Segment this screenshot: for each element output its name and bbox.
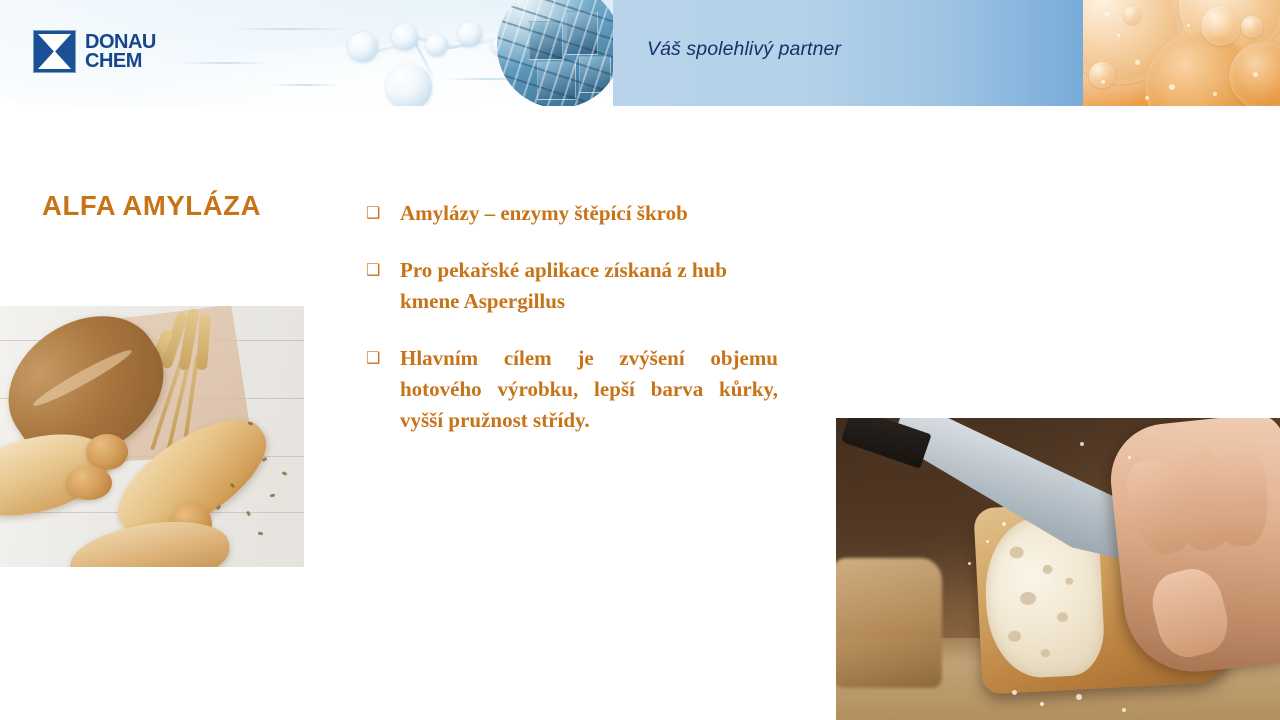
bread-assortment-photo: [0, 306, 304, 567]
bullet-item-2: ❑ Pro pekařské aplikace získaná z hub km…: [366, 255, 778, 317]
slide-header: DONAU CHEM Váš spolehlivý partner: [0, 0, 1280, 106]
bullet-item-1: ❑ Amylázy – enzymy štěpící škrob: [366, 198, 778, 229]
logo-hourglass-icon: [33, 30, 76, 73]
bullet-item-3-text: Hlavním cílem je zvýšení objemu hotového…: [400, 343, 778, 436]
slide-canvas: DONAU CHEM Váš spolehlivý partner: [0, 0, 1280, 720]
bread-roll-1: [86, 434, 128, 470]
header-left-panel: DONAU CHEM: [0, 0, 613, 106]
bullet-square-icon: ❑: [366, 255, 400, 285]
bread-cutting-photo: [836, 418, 1280, 720]
slide-title: ALFA AMYLÁZA: [42, 190, 342, 222]
logo-text-line2: CHEM: [85, 52, 156, 71]
bullet-item-1-text: Amylázy – enzymy štěpící škrob: [400, 198, 778, 229]
bullet-square-icon: ❑: [366, 343, 400, 373]
donau-chem-logo[interactable]: DONAU CHEM: [33, 30, 156, 73]
background-bread-slice: [836, 558, 942, 688]
header-blue-band: Váš spolehlivý partner: [613, 0, 1083, 106]
bullet-list: ❑ Amylázy – enzymy štěpící škrob ❑ Pro p…: [366, 198, 778, 436]
industrial-building-photo: [497, 0, 613, 106]
bread-roll-2: [66, 466, 112, 500]
bullet-item-3: ❑ Hlavním cílem je zvýšení objemu hotové…: [366, 343, 778, 436]
bullet-square-icon: ❑: [366, 198, 400, 228]
logo-text-line1: DONAU: [85, 33, 156, 52]
bullet-item-2-text: Pro pekařské aplikace získaná z hub kmen…: [400, 255, 778, 317]
header-tagline: Váš spolehlivý partner: [647, 38, 841, 61]
orange-bubbles-photo: [1083, 0, 1280, 106]
